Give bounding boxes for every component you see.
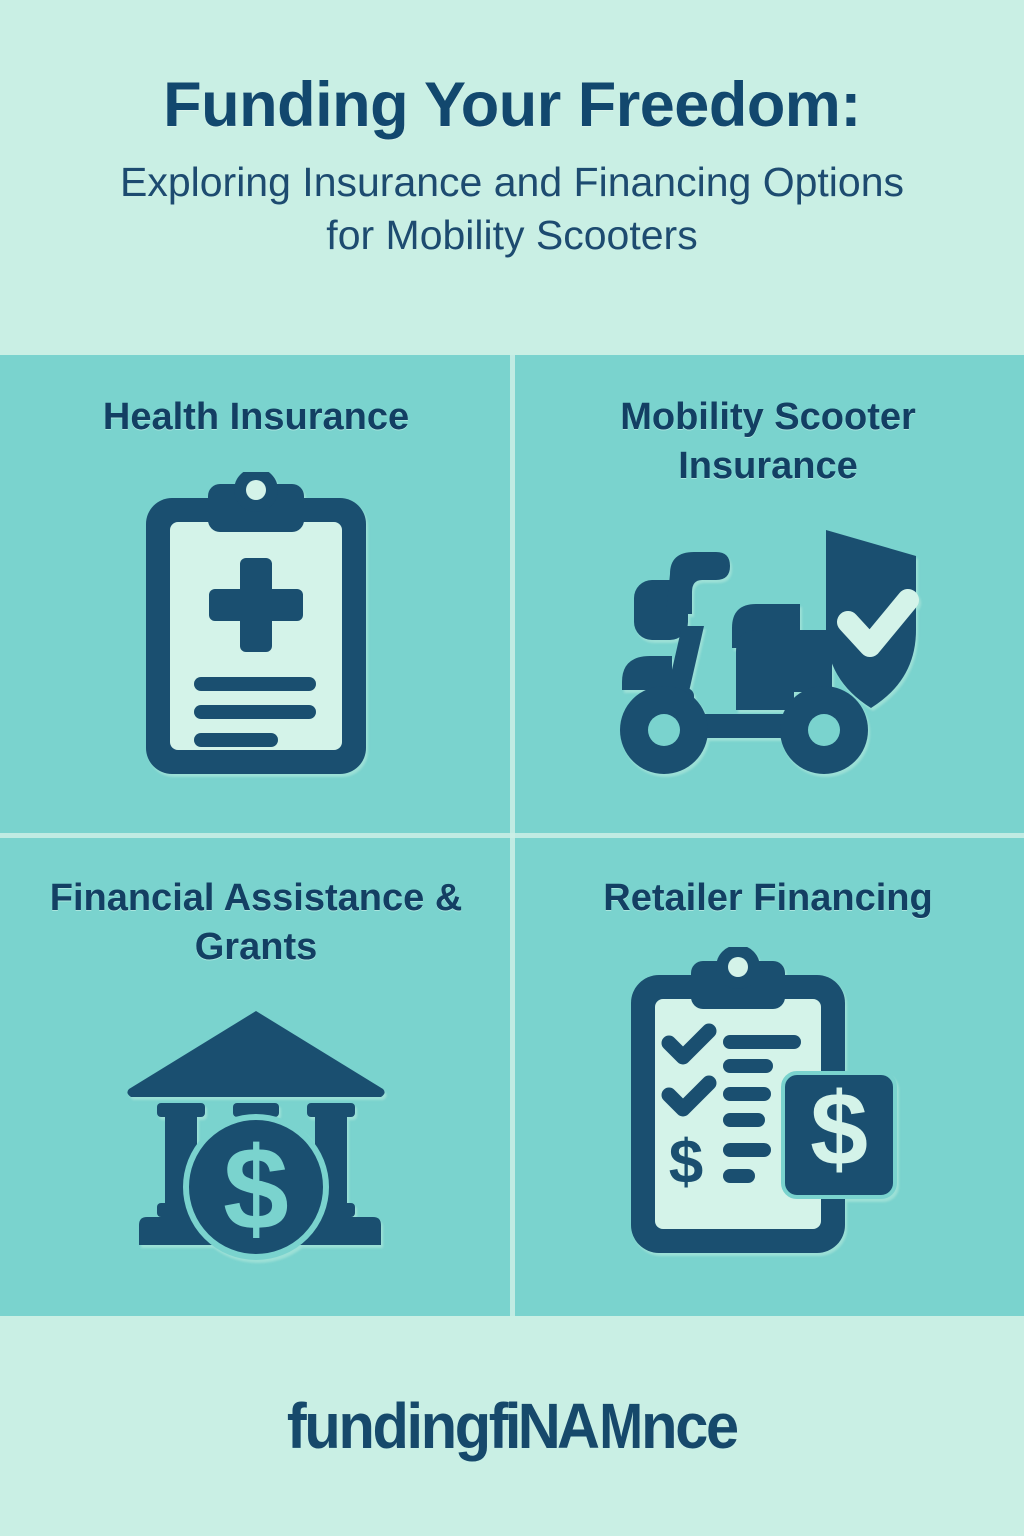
brand-logo-part-4: nce	[641, 1390, 737, 1462]
quadrant-title-retailer-financing: Retailer Financing	[603, 874, 932, 923]
quadrant-retailer-financing[interactable]: Retailer Financing $	[512, 836, 1024, 1317]
icon-container-financial-assistance-grants: $	[34, 972, 478, 1292]
quadrant-title-health-insurance: Health Insurance	[103, 393, 409, 442]
brand-logo-part-1: funding	[287, 1390, 489, 1462]
icon-container-health-insurance	[34, 442, 478, 811]
icon-container-retailer-financing: $ $	[546, 923, 990, 1292]
medical-clipboard-icon	[138, 472, 374, 782]
svg-text:$: $	[223, 1123, 289, 1255]
mobility-scooter-shield-icon	[608, 522, 928, 782]
quadrant-title-financial-assistance-grants: Financial Assistance & Grants	[34, 874, 478, 973]
page-title: Funding Your Freedom:	[60, 72, 964, 138]
quadrant-health-insurance[interactable]: Health Insurance	[0, 355, 512, 836]
quadrant-title-mobility-scooter-insurance: Mobility Scooter Insurance	[546, 393, 990, 492]
svg-text:$: $	[669, 1128, 703, 1197]
quadrant-financial-assistance-grants[interactable]: Financial Assistance & Grants	[0, 836, 512, 1317]
bank-dollar-coin-icon: $	[121, 997, 391, 1267]
icon-container-mobility-scooter-insurance	[546, 492, 990, 812]
infographic-poster: Funding Your Freedom: Exploring Insuranc…	[0, 0, 1024, 1536]
svg-text:$: $	[810, 1072, 868, 1188]
checklist-clipboard-dollar-icon: $ $	[623, 947, 913, 1267]
page-subtitle: Exploring Insurance and Financing Option…	[60, 156, 964, 261]
brand-logo: fundingfiNAMnce	[287, 1389, 737, 1463]
quadrant-mobility-scooter-insurance[interactable]: Mobility Scooter Insurance	[512, 355, 1024, 836]
header-band: Funding Your Freedom: Exploring Insuranc…	[0, 0, 1024, 355]
brand-logo-part-3: M	[599, 1389, 639, 1463]
footer-band: fundingfiNAMnce	[0, 1316, 1024, 1536]
options-grid: Health Insurance	[0, 355, 1024, 1316]
brand-logo-part-2: fiNA	[489, 1390, 596, 1462]
